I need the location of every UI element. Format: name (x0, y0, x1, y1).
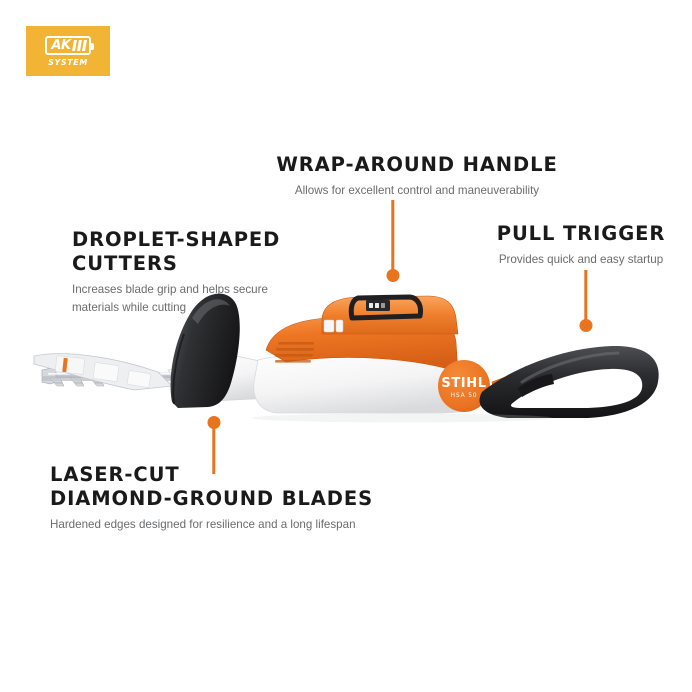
battery-led-2 (375, 303, 379, 308)
battery-bar-2 (77, 40, 82, 51)
battery-icon: AK (45, 36, 90, 55)
callout-title: WRAP-AROUND HANDLE (252, 153, 582, 177)
ak-system-badge-inner: AK SYSTEM (32, 32, 104, 70)
battery-led-1 (369, 303, 373, 308)
warning-label-1 (55, 356, 85, 375)
leader-dot (387, 269, 400, 282)
hedge-trimmer-illustration: STIHL HSA 50 (22, 286, 672, 426)
callout-laser-cut-diamond-ground-blades: LASER-CUT DIAMOND-GROUND BLADES Hardened… (50, 463, 410, 534)
callout-title: LASER-CUT DIAMOND-GROUND BLADES (50, 463, 410, 511)
leader-line-wrap-around-handle (386, 200, 400, 282)
drop-shadow (252, 414, 552, 423)
leader-stem (212, 424, 215, 474)
callout-title: DROPLET-SHAPED CUTTERS (72, 228, 298, 276)
leader-stem (391, 200, 394, 272)
rear-loop-handle[interactable] (480, 346, 659, 418)
battery-contact-cover (336, 320, 343, 332)
callout-subtitle: Provides quick and easy startup (474, 251, 688, 269)
battery-led-3 (381, 303, 385, 308)
callout-subtitle: Allows for excellent control and maneuve… (252, 182, 582, 200)
callout-wrap-around-handle: WRAP-AROUND HANDLE Allows for excellent … (252, 153, 582, 200)
battery-bars-icon (73, 40, 86, 51)
callout-subtitle: Hardened edges designed for resilience a… (50, 516, 410, 534)
product-feature-graphic: AK SYSTEM WRAP-AROUND HANDLE Allows for … (0, 0, 692, 692)
stihl-badge-text: STIHL (441, 376, 486, 391)
ak-logo-row: AK (45, 36, 90, 56)
ak-system-badge: AK SYSTEM (26, 26, 110, 76)
callout-title: PULL TRIGGER (474, 222, 688, 246)
battery-release-latch[interactable] (324, 320, 334, 332)
battery-bar-3 (82, 40, 87, 51)
warning-label-2 (93, 362, 119, 381)
ak-system-label: SYSTEM (48, 59, 88, 67)
product-image-hedge-trimmer: STIHL HSA 50 (22, 286, 672, 426)
stihl-badge-model-text: HSA 50 (451, 392, 478, 399)
ak-brand-text: AK (51, 39, 72, 52)
callout-pull-trigger: PULL TRIGGER Provides quick and easy sta… (474, 222, 688, 269)
battery-pack[interactable] (322, 296, 458, 334)
battery-bar-1 (72, 40, 77, 51)
